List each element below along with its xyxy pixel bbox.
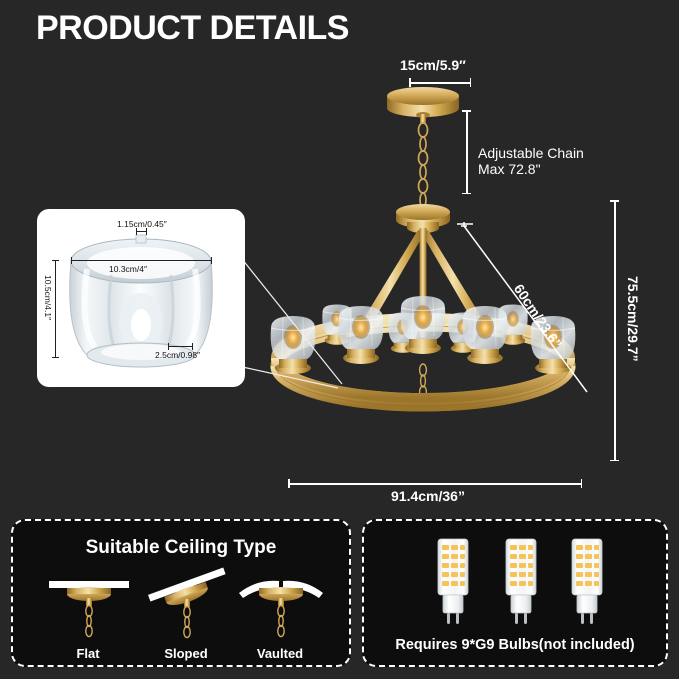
chain-length-line2: Max 72.8" <box>478 161 584 177</box>
inset-base-width-rule <box>168 346 193 347</box>
ceiling-card-title: Suitable Ceiling Type <box>13 537 349 559</box>
ceiling-type-vaulted: Vaulted <box>225 573 335 663</box>
chain-length-label: Adjustable Chain Max 72.8" <box>478 145 584 177</box>
g9-bulb <box>506 539 536 624</box>
flat-ceiling-icon <box>41 573 137 643</box>
inset-height-label: 10.5cm/4.1″ <box>43 275 53 320</box>
inset-leader-lines <box>238 236 368 396</box>
suitable-ceiling-type-card: Suitable Ceiling Type Flat <box>11 519 351 667</box>
page-title: PRODUCT DETAILS <box>36 9 349 48</box>
ceiling-type-flat-label: Flat <box>33 646 143 661</box>
product-details-infographic: PRODUCT DETAILS <box>0 0 679 679</box>
crystal-shade-drawing <box>53 221 229 381</box>
required-bulbs-card: Requires 9*G9 Bulbs(not included) <box>362 519 668 667</box>
chain-length-rule <box>466 110 468 194</box>
crystal-shade-inset-panel: 1.15cm/0.45″ 10.3cm/4″ 10.5cm/4.1″ 2.5cm… <box>37 209 245 387</box>
g9-bulb <box>572 539 602 624</box>
g9-bulb <box>438 539 468 624</box>
inset-mouth-width-label: 10.3cm/4″ <box>109 264 147 274</box>
ceiling-canopy <box>387 87 459 124</box>
inset-base-width-label: 2.5cm/0.98″ <box>155 350 200 360</box>
inset-top-socket-label: 1.15cm/0.45″ <box>117 219 167 229</box>
sloped-ceiling-icon <box>139 573 235 643</box>
inset-top-socket-rule <box>136 231 147 232</box>
canopy-width-rule <box>409 82 471 84</box>
total-height-rule <box>614 200 616 461</box>
inset-height-rule <box>55 260 56 358</box>
inset-mouth-width-rule <box>71 260 212 261</box>
g9-bulbs-illustration <box>426 537 616 629</box>
chain-length-line1: Adjustable Chain <box>478 145 584 161</box>
ceiling-type-flat: Flat <box>33 573 143 663</box>
center-drop-chain <box>420 364 427 398</box>
vaulted-ceiling-icon <box>233 573 329 643</box>
bulbs-card-caption: Requires 9*G9 Bulbs(not included) <box>364 637 666 653</box>
total-height-label: 75.5cm/29.7” <box>625 276 641 362</box>
ring-diameter-label: 91.4cm/36” <box>391 488 465 504</box>
canopy-width-label: 15cm/5.9″ <box>400 57 466 73</box>
hanging-chain <box>419 123 428 207</box>
ceiling-type-vaulted-label: Vaulted <box>225 646 335 661</box>
ring-diameter-rule <box>288 483 582 485</box>
